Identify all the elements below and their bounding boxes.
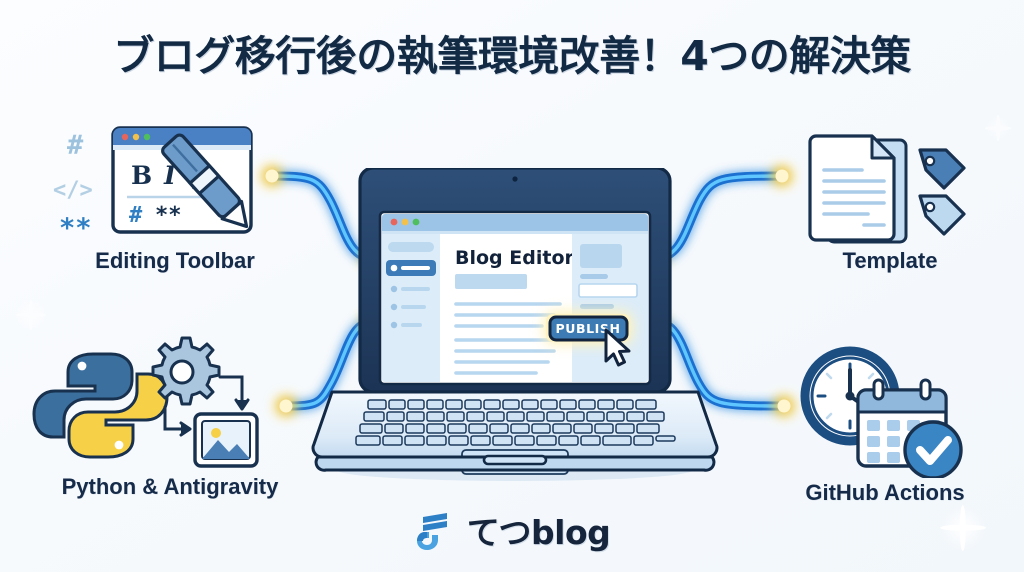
tetsublog-logo-icon xyxy=(414,508,458,552)
panel-input-field xyxy=(579,284,637,297)
laptop-illustration: Blog Editor xyxy=(310,168,720,484)
template-icon xyxy=(790,118,990,253)
editor-heading: Blog Editor xyxy=(455,247,574,269)
check-badge-icon xyxy=(905,422,961,478)
node-github-actions[interactable]: GitHub Actions xyxy=(770,338,1000,513)
panel-thumbnail xyxy=(580,244,622,268)
python-antigravity-icon xyxy=(20,332,320,472)
node-label-python-antigravity: Python & Antigravity xyxy=(20,474,320,500)
brand-name: てつblog xyxy=(467,506,611,554)
node-label-github-actions: GitHub Actions xyxy=(770,480,1000,506)
window-dot-close xyxy=(391,219,398,226)
sidebar-logo-placeholder xyxy=(388,242,434,252)
panel-label xyxy=(580,274,608,279)
browser-chrome xyxy=(382,214,648,231)
footer-brand[interactable]: てつblog xyxy=(0,506,1024,554)
laptop-latch xyxy=(484,456,546,464)
python-logo-icon xyxy=(34,354,167,457)
node-template[interactable]: Template xyxy=(790,118,990,278)
code-symbol-icon: </> xyxy=(53,178,93,203)
svg-text:#: # xyxy=(129,203,143,228)
editor-subtitle-block xyxy=(455,274,527,289)
poster-canvas: ブログ移行後の執筆環境改善！4つの解決策 xyxy=(0,0,1024,572)
svg-text:**: ** xyxy=(155,203,182,228)
page-title: ブログ移行後の執筆環境改善！4つの解決策 xyxy=(0,22,1024,82)
node-label-editing-toolbar: Editing Toolbar xyxy=(45,248,305,274)
window-dot-maximize xyxy=(413,219,420,226)
github-actions-icon xyxy=(770,338,1000,478)
image-icon xyxy=(195,414,257,466)
sparkle-decoration xyxy=(16,300,46,330)
node-python-antigravity[interactable]: Python & Antigravity xyxy=(20,332,320,507)
hash-symbol-icon: # xyxy=(67,130,84,161)
node-label-template: Template xyxy=(790,248,990,274)
panel-label xyxy=(580,304,614,309)
bold-button: B xyxy=(131,161,152,190)
tag-icon xyxy=(920,196,964,234)
tag-icon xyxy=(920,150,964,188)
editing-toolbar-icon: # </> ** B I U # ** xyxy=(45,112,305,252)
asterisk-symbol-icon: ** xyxy=(59,213,92,244)
editor-body-lines xyxy=(456,304,560,373)
webcam-icon xyxy=(512,176,517,181)
window-dot-minimize xyxy=(402,219,409,226)
gear-icon xyxy=(153,338,219,404)
node-editing-toolbar[interactable]: # </> ** B I U # ** xyxy=(45,112,305,277)
